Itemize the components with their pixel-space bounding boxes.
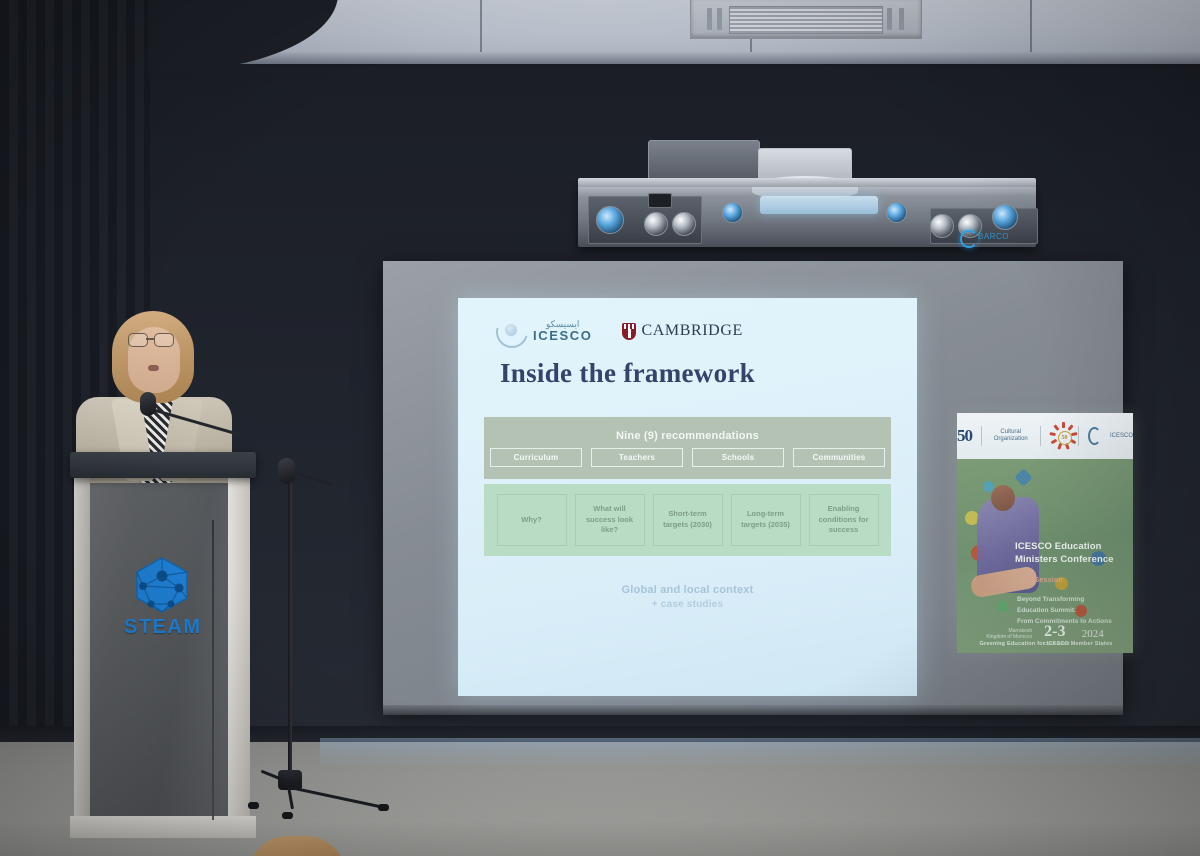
- conference-poster: 50 Cultural Organization 50 ICESCO: [957, 413, 1133, 653]
- screen-bottom-bar: [383, 705, 1123, 715]
- podium-body: [86, 476, 238, 826]
- brand-logo-icon: [960, 230, 978, 248]
- eyeglass-right-icon: [154, 333, 174, 347]
- eyeglass-bridge: [146, 338, 154, 340]
- speaker-lens-8: [992, 204, 1018, 230]
- poster-date-month: DECEMBER: [1044, 641, 1070, 646]
- poster-logo-header: 50 Cultural Organization 50 ICESCO: [957, 413, 1133, 459]
- speaker-lens-1: [596, 206, 624, 234]
- mic-stand-foot-back: [282, 812, 293, 819]
- speaker-lens-2: [644, 212, 668, 236]
- hvac-vent: [690, 0, 922, 39]
- speaker-lens-5: [886, 202, 907, 223]
- light-bar: [760, 196, 878, 214]
- av-rail-top-edge: [578, 178, 1036, 187]
- av-switch[interactable]: [648, 193, 672, 208]
- podium-lectern-top: [70, 452, 256, 478]
- dimension-long-term: Long-term targets (2035): [731, 494, 801, 546]
- poster-footer: Marrakesh Kingdom of Morocco 2-3 DECEMBE…: [957, 619, 1133, 649]
- chip-curriculum: Curriculum: [490, 448, 582, 467]
- cambridge-label: CAMBRIDGE: [641, 322, 742, 340]
- sun-center-label: 50: [1058, 431, 1072, 445]
- recommendations-heading: Nine (9) recommendations: [616, 430, 759, 442]
- steam-logo: STEAM: [124, 556, 200, 640]
- podium-right-edge: [228, 470, 250, 828]
- icesco-logo: ايسيسكو ICESCO: [496, 316, 592, 346]
- poster-title-line-1: ICESCO Education: [1015, 541, 1129, 553]
- brand-logo-label: BARCO: [978, 232, 1009, 241]
- presentation-slide: ايسيسكو ICESCO CAMBRIDGE Inside the fram…: [458, 298, 917, 696]
- mic-stand-foot-right: [378, 804, 389, 811]
- hexagon-network-icon: [131, 556, 193, 614]
- podium-mic-head: [140, 392, 156, 416]
- recommendation-chip-row: Curriculum Teachers Schools Communities: [490, 448, 885, 467]
- floor-mic-head: [278, 458, 295, 484]
- cambridge-logo: CAMBRIDGE: [622, 322, 742, 340]
- slide-logo-row: ايسيسكو ICESCO CAMBRIDGE: [496, 316, 743, 346]
- unesco-label: Cultural Organization: [991, 429, 1031, 442]
- poster-title-line-2: Ministers Conference: [1015, 554, 1129, 566]
- sun-burst-icon: 50: [1050, 422, 1070, 450]
- dimensions-band: Why? What will success look like? Short-…: [484, 484, 891, 556]
- footer-line-1: Global and local context: [622, 584, 754, 596]
- podium-base: [70, 816, 256, 838]
- chip-communities: Communities: [793, 448, 885, 467]
- floor-light-reflection: [320, 738, 1200, 768]
- poster-date-year: 2024: [1082, 628, 1104, 640]
- speaker-lens-3: [672, 212, 696, 236]
- chip-teachers: Teachers: [591, 448, 683, 467]
- icesco-latin-label: ICESCO: [533, 329, 592, 342]
- speaker-lens-4: [722, 202, 743, 223]
- icesco-swirl-icon: [496, 316, 526, 346]
- podium-cable: [212, 520, 214, 820]
- speaker-lens-6: [930, 214, 954, 238]
- dimension-short-term: Short-term targets (2030): [653, 494, 723, 546]
- poster-theme-line-1: Beyond Transforming: [1017, 595, 1129, 604]
- vent-grille: [729, 6, 883, 34]
- poster-icesco-icon: [1088, 427, 1101, 445]
- dimension-why: Why?: [497, 494, 567, 546]
- anniversary-50-label: 50: [957, 426, 972, 446]
- speaker-mouth: [148, 365, 159, 371]
- chip-schools: Schools: [692, 448, 784, 467]
- cambridge-shield-icon: [622, 323, 636, 340]
- poster-subtitle: 3rd Session: [1021, 577, 1129, 584]
- ceiling-edge: [150, 52, 1200, 64]
- poster-theme-line-2: Education Summit:: [1017, 606, 1129, 615]
- dimension-enabling: Enabling conditions for success: [809, 494, 879, 546]
- poster-date-day: 2-3: [1044, 623, 1070, 641]
- poster-icesco-label: ICESCO: [1110, 433, 1133, 440]
- conference-photo-scene: BARCO ايسيسكو ICESCO CAMBRIDGE Inside th…: [0, 0, 1200, 856]
- podium-left-edge: [74, 470, 90, 828]
- mic-stand-pole: [288, 478, 292, 778]
- eyeglass-left-icon: [128, 333, 148, 347]
- poster-venue-line-2: Kingdom of Morocco: [986, 634, 1032, 641]
- footer-line-2: + case studies: [652, 599, 723, 610]
- dimension-success: What will success look like?: [575, 494, 645, 546]
- slide-footer: Global and local context + case studies: [484, 564, 891, 630]
- poster-child-head: [991, 485, 1015, 511]
- recommendations-band: Nine (9) recommendations Curriculum Teac…: [484, 417, 891, 479]
- mic-stand-foot-left: [248, 802, 259, 809]
- slide-title: Inside the framework: [500, 358, 755, 389]
- steam-wordmark: STEAM: [124, 616, 200, 639]
